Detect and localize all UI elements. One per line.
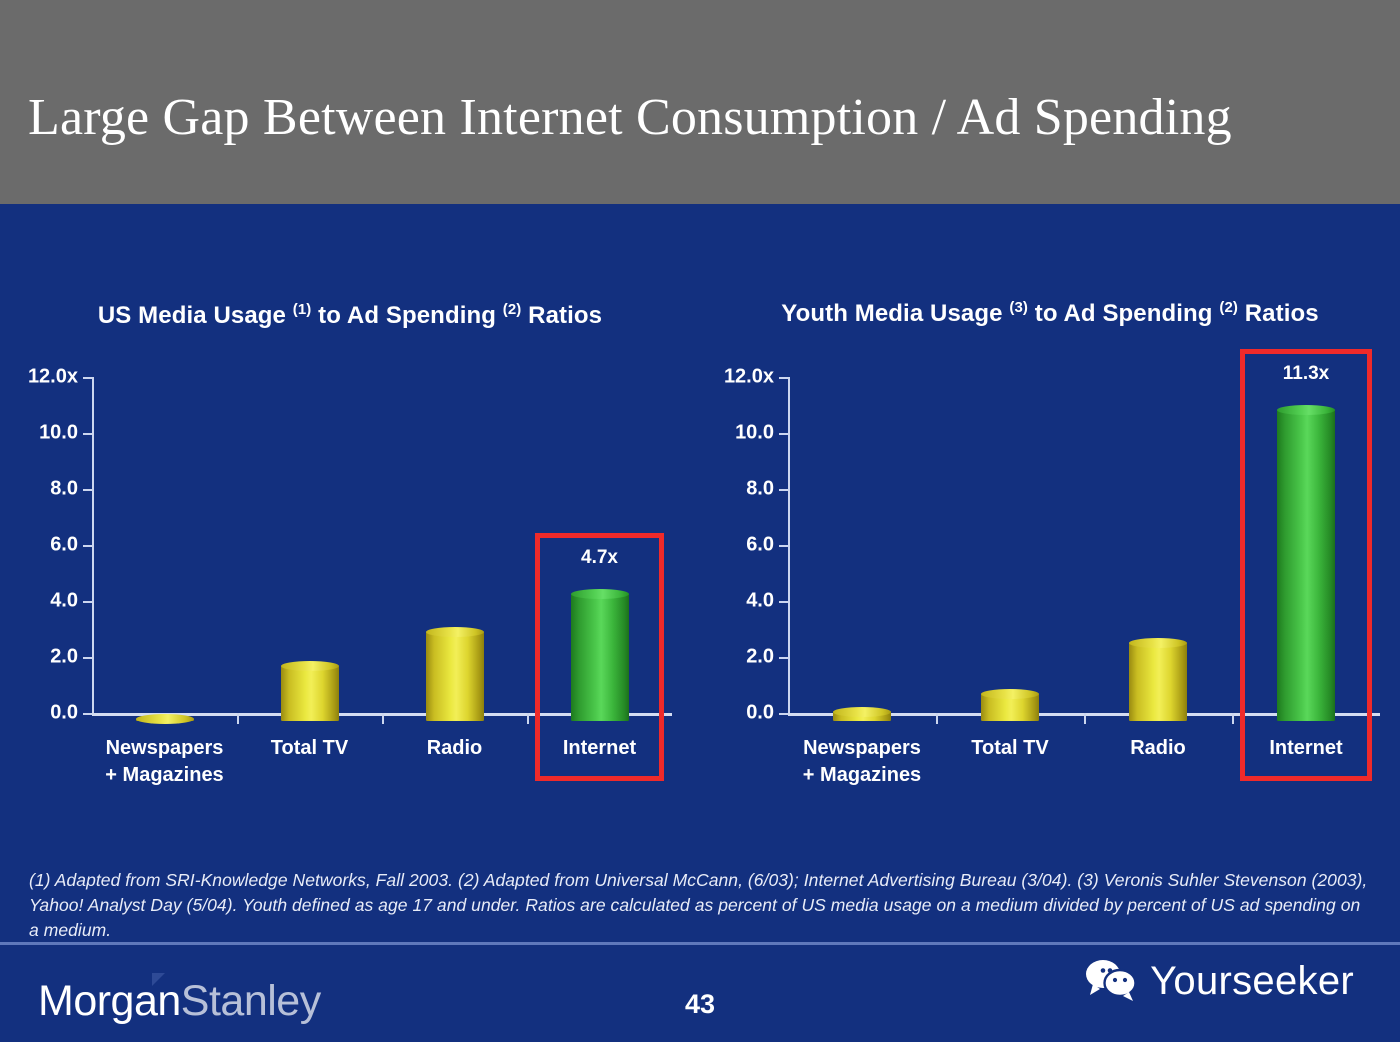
x-axis-category-label: Total TV: [971, 735, 1048, 762]
footnote-text: (1) Adapted from SRI-Knowledge Networks,…: [29, 868, 1371, 943]
chart-title-segment: US Media Usage: [98, 302, 293, 329]
chart-title-footnote-ref: (3): [1009, 299, 1028, 316]
y-axis-line: [788, 377, 790, 713]
y-axis-tick-label: 12.0x: [724, 366, 774, 389]
bar-body: [1129, 643, 1187, 721]
y-axis-tick: [779, 657, 788, 659]
x-axis-tick: [936, 713, 938, 724]
bar-top-ellipse: [981, 689, 1039, 699]
page-title: Large Gap Between Internet Consumption /…: [28, 88, 1232, 147]
y-axis-tick-label: 12.0x: [28, 366, 78, 389]
y-axis-tick-label: 10.0: [39, 422, 78, 445]
wechat-bubbles-icon: [1084, 957, 1138, 1006]
x-axis-tick: [382, 713, 384, 724]
chart-title-footnote-ref: (1): [293, 301, 312, 318]
x-axis-category-label: Total TV: [271, 735, 348, 762]
y-axis-tick-label: 4.0: [50, 590, 78, 613]
x-axis-tick: [1084, 713, 1086, 724]
y-axis-tick-label: 0.0: [746, 702, 774, 725]
x-axis-category-label: Radio: [427, 735, 483, 762]
plot-area-us-media-usage: 0.02.04.06.08.010.012.0xNewspapers + Mag…: [92, 377, 672, 721]
bar-total-tv: [981, 689, 1039, 721]
y-axis-tick: [83, 377, 92, 379]
chart-title-footnote-ref: (2): [503, 301, 522, 318]
bar-body: [1277, 410, 1335, 721]
plot-area-youth-media-usage: 0.02.04.06.08.010.012.0xNewspapers + Mag…: [788, 377, 1380, 721]
bar-radio: [426, 627, 484, 721]
y-axis-tick-label: 10.0: [735, 422, 774, 445]
x-axis-tick: [527, 713, 529, 724]
y-axis-tick: [779, 433, 788, 435]
y-axis-tick: [83, 489, 92, 491]
bar-data-label: 11.3x: [1283, 363, 1330, 385]
chart-panel-us-media-usage: US Media Usage (1) to Ad Spending (2) Ra…: [0, 204, 700, 804]
y-axis-tick-label: 0.0: [50, 702, 78, 725]
y-axis-tick-label: 6.0: [50, 534, 78, 557]
morgan-stanley-triangle-icon: [152, 973, 165, 986]
y-axis-tick: [779, 713, 788, 715]
chart-title-segment: to Ad Spending: [311, 302, 502, 329]
bar-newspapers: [833, 707, 891, 721]
bar-body: [571, 594, 629, 721]
x-axis-category-label: Internet: [563, 735, 636, 762]
x-axis-category-label: Internet: [1269, 735, 1342, 762]
y-axis-line: [92, 377, 94, 713]
chart-title-footnote-ref: (2): [1219, 299, 1238, 316]
y-axis-tick: [779, 489, 788, 491]
bar-top-ellipse: [1277, 405, 1335, 415]
slide-footer: MorganStanley 43 Yourseeker: [0, 945, 1400, 1042]
chart-title-segment: Youth Media Usage: [781, 300, 1009, 327]
slide-header: Large Gap Between Internet Consumption /…: [0, 0, 1400, 204]
y-axis-tick: [83, 545, 92, 547]
yourseeker-watermark: Yourseeker: [1084, 957, 1354, 1006]
x-axis-category-label: Newspapers + Magazines: [803, 735, 921, 789]
bar-body: [426, 632, 484, 721]
chart-panel-youth-media-usage: Youth Media Usage (3) to Ad Spending (2)…: [700, 204, 1400, 804]
bar-total-tv: [281, 661, 339, 721]
y-axis-tick: [83, 657, 92, 659]
bar-newspapers: [136, 714, 194, 721]
y-axis-tick-label: 4.0: [746, 590, 774, 613]
y-axis-tick-label: 8.0: [50, 478, 78, 501]
y-axis-tick: [779, 377, 788, 379]
bar-internet: [1277, 405, 1335, 721]
chart-title-segment: to Ad Spending: [1028, 300, 1219, 327]
bar-top-ellipse: [1129, 638, 1187, 648]
bar-radio: [1129, 638, 1187, 721]
x-axis-tick: [1232, 713, 1234, 724]
bar-top-ellipse: [426, 627, 484, 637]
y-axis-tick-label: 2.0: [50, 646, 78, 669]
y-axis-tick: [83, 601, 92, 603]
slide-body: US Media Usage (1) to Ad Spending (2) Ra…: [0, 204, 1400, 1042]
x-axis-category-label: Radio: [1130, 735, 1186, 762]
bar-top-ellipse: [571, 589, 629, 599]
y-axis-tick: [779, 601, 788, 603]
y-axis-tick: [779, 545, 788, 547]
y-axis-tick-label: 6.0: [746, 534, 774, 557]
y-axis-tick-label: 8.0: [746, 478, 774, 501]
yourseeker-label: Yourseeker: [1150, 959, 1354, 1004]
y-axis-tick: [83, 433, 92, 435]
bar-top-ellipse: [281, 661, 339, 671]
y-axis-tick: [83, 713, 92, 715]
chart-title-youth-media-usage: Youth Media Usage (3) to Ad Spending (2)…: [700, 290, 1400, 332]
bar-data-label: 4.7x: [581, 547, 618, 569]
chart-title-us-media-usage: US Media Usage (1) to Ad Spending (2) Ra…: [0, 292, 700, 334]
y-axis-tick-label: 2.0: [746, 646, 774, 669]
chart-title-segment: Ratios: [1238, 300, 1319, 327]
x-axis-tick: [237, 713, 239, 724]
bar-top-ellipse: [136, 714, 194, 724]
x-axis-category-label: Newspapers + Magazines: [105, 735, 223, 789]
bar-top-ellipse: [833, 707, 891, 717]
chart-title-segment: Ratios: [521, 302, 602, 329]
bar-body: [281, 666, 339, 721]
bar-internet: [571, 589, 629, 721]
